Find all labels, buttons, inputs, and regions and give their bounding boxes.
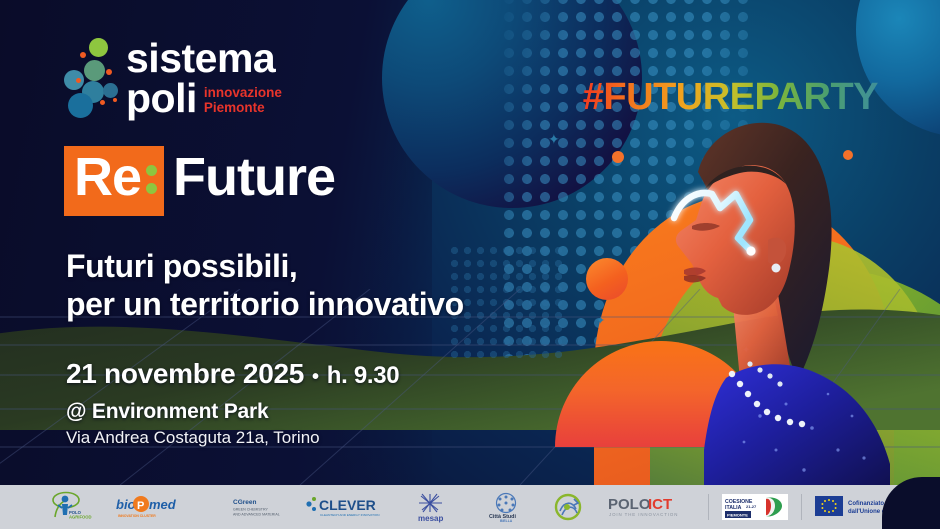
svg-text:AND ADVANCED MATERIALS: AND ADVANCED MATERIALS [233,513,280,517]
clever-logo[interactable]: CLEVER CLEANTECH AND ENERGY INNOVATION [304,494,382,520]
headline-line-2: per un territorio innovativo [66,286,464,324]
poster-content: sistema poli innovazione Piemonte #FUTUR… [0,0,940,529]
hashtag-futureparty: #FUTUREPARTY [583,76,878,119]
headline-line-1: Futuri possibili, [66,248,464,286]
event-venue: @ Environment Park [66,400,268,424]
svg-text:GREEN CHEMISTRY: GREEN CHEMISTRY [233,508,268,512]
svg-text:JOIN THE INNOVACTION: JOIN THE INNOVACTION [609,512,678,517]
svg-text:PIEMONTE: PIEMONTE [727,513,748,518]
footer-divider-2 [801,494,802,520]
svg-text:CLEVER: CLEVER [319,497,376,513]
tessile-cluster-logo[interactable] [552,491,584,523]
mesap-logo[interactable]: mesap [406,490,460,524]
refuture-fu-text: Fu [173,150,237,204]
brand-name-line1: sistema [126,39,282,78]
brand-name-line2: poli [126,78,197,119]
svg-text:INNOVATION CLUSTER: INNOVATION CLUSTER [118,514,156,518]
event-datetime: 21 novembre 2025 • h. 9.30 [66,358,399,390]
brand-tagline-line1: innovazione [204,85,282,100]
partner-logos-group: POLO AGRIFOOD bio P med INNOVATION CLUST… [0,485,708,529]
datetime-separator: • [312,366,319,389]
svg-text:AGRIFOOD: AGRIFOOD [69,515,92,520]
footer-divider-1 [708,494,709,520]
svg-text:21-27: 21-27 [746,504,757,509]
svg-text:BIELLA: BIELLA [500,519,513,523]
svg-text:Cofinanziato: Cofinanziato [848,501,884,507]
refuture-re-box: Re [64,146,164,216]
event-time: h. 9.30 [327,362,400,390]
svg-text:CGreen: CGreen [233,499,257,506]
citta-studi-biella-logo[interactable]: Città Studi BIELLA [484,491,528,523]
sistema-poli-logo[interactable]: sistema poli innovazione Piemonte [62,38,282,119]
refuture-ture-text: ture [237,150,335,204]
svg-text:med: med [149,497,176,512]
coesione-italia-logo[interactable]: COESIONE ITALIA 21-27 PIEMONTE [722,492,788,522]
refuture-logo: Re Fu ture [64,146,335,216]
polo-agrifood-logo[interactable]: POLO AGRIFOOD [46,491,92,523]
brand-tagline-line2: Piemonte [204,100,282,115]
page-title: Futuri possibili, per un territorio inno… [66,248,464,324]
cgreen-logo[interactable]: CGreen GREEN CHEMISTRY AND ADVANCED MATE… [200,493,280,521]
svg-text:ICT: ICT [648,496,672,513]
sistema-poli-dots-icon [62,38,117,116]
svg-text:CLEANTECH AND ENERGY INNOVATIO: CLEANTECH AND ENERGY INNOVATION [320,513,379,517]
svg-text:P: P [137,500,144,512]
sponsor-footer-bar: POLO AGRIFOOD bio P med INNOVATION CLUST… [0,485,940,529]
biopmed-logo[interactable]: bio P med INNOVATION CLUSTER [116,492,176,522]
svg-text:mesap: mesap [418,514,443,523]
event-date: 21 novembre 2025 [66,358,304,390]
svg-text:POLO: POLO [608,496,651,513]
svg-text:ITALIA: ITALIA [725,505,742,511]
colon-dots-icon [146,165,157,194]
event-address: Via Andrea Costaguta 21a, Torino [66,428,320,448]
svg-text:bio: bio [116,497,136,512]
event-poster: ✦ ✦ ✦ [0,0,940,529]
refuture-re-text: Re [74,150,141,204]
poloict-logo[interactable]: POLO ICT JOIN THE INNOVACTION [608,495,708,519]
